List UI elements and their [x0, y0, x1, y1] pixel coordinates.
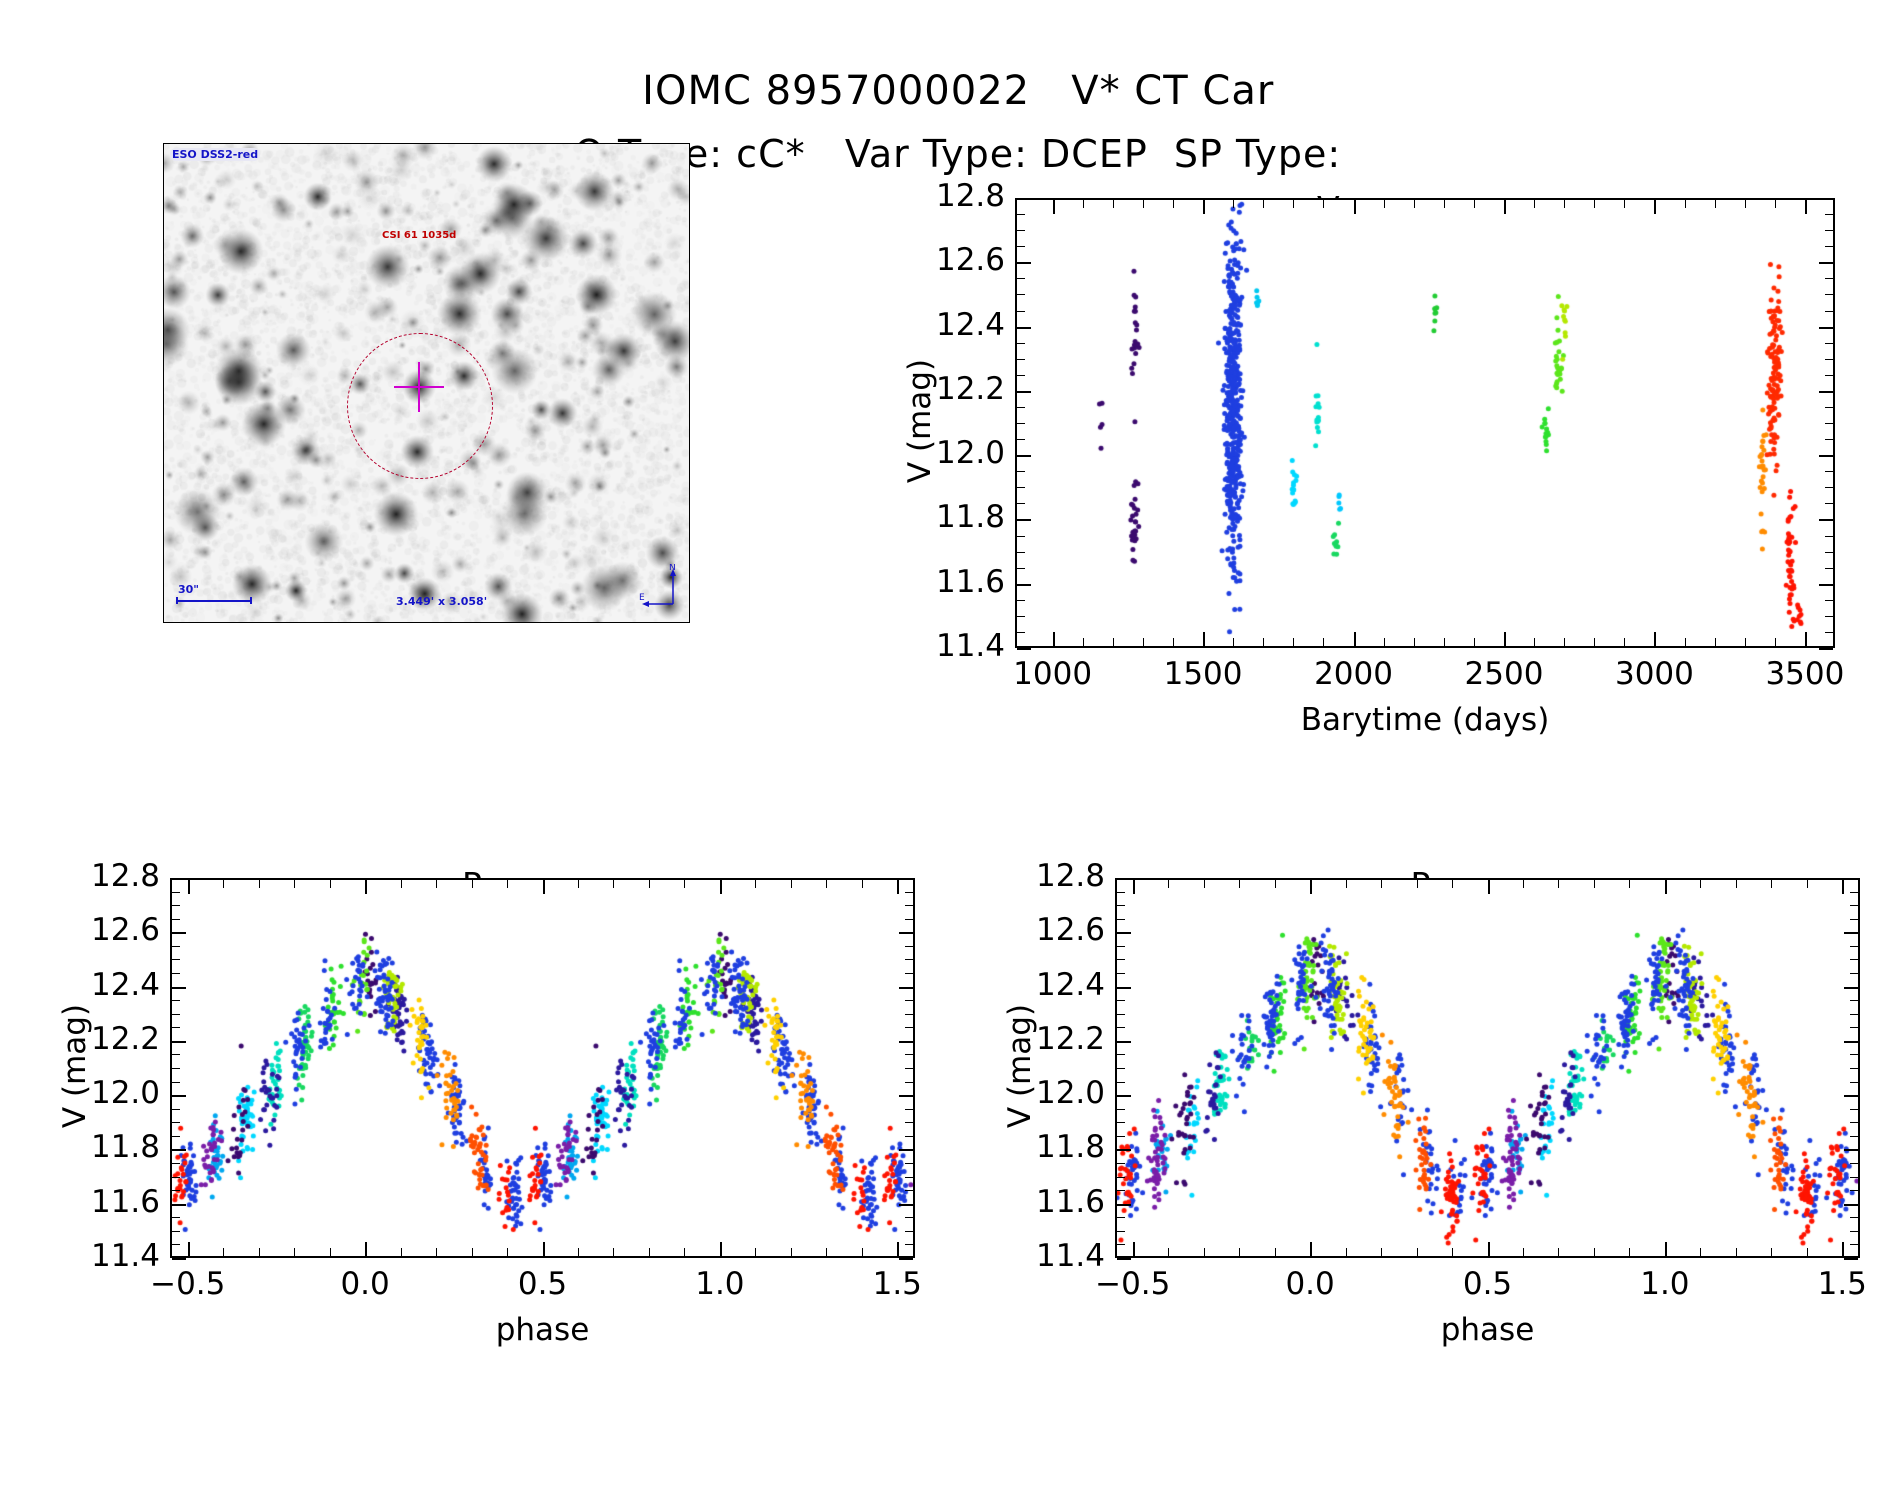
axis-tick [1488, 1242, 1490, 1256]
axis-tick [1850, 1163, 1858, 1164]
axis-tick [1850, 946, 1858, 947]
axis-tick [1323, 200, 1324, 208]
axis-tick [1017, 262, 1031, 264]
axis-tick [1736, 1248, 1737, 1256]
axis-tick [294, 1248, 295, 1256]
axis-tick [1017, 616, 1025, 617]
axis-tick [1825, 407, 1833, 408]
axis-tick [172, 1258, 186, 1260]
axis-tick [172, 1204, 186, 1206]
axis-tick [1017, 552, 1025, 553]
phase-vsx-panel[interactable]: PVSX = 18.060600 days 11.411.611.812.012… [955, 826, 1885, 1486]
phase-omc-panel[interactable]: POMC = 18.062±0.004 days 11.411.611.812.… [10, 826, 940, 1486]
axis-tick [1117, 1190, 1125, 1191]
phase-omc-points [172, 880, 913, 1256]
axis-tick [1113, 638, 1114, 646]
x-axis-tick-label: −0.5 [118, 1266, 258, 1302]
axis-tick [1850, 1054, 1858, 1055]
axis-tick [1143, 200, 1144, 208]
axis-tick [1203, 632, 1205, 646]
axis-tick [1117, 1258, 1131, 1260]
axis-tick [1624, 200, 1625, 208]
axis-tick [791, 880, 792, 888]
axis-tick [1053, 200, 1055, 214]
x-axis-tick-label: 3500 [1735, 656, 1875, 692]
axis-tick [1381, 1248, 1382, 1256]
axis-tick [1825, 423, 1833, 424]
axis-tick [1117, 892, 1125, 893]
axis-tick [1825, 600, 1833, 601]
axis-tick [1017, 246, 1025, 247]
axis-tick [684, 880, 685, 888]
axis-tick [1850, 1109, 1858, 1110]
axis-tick [1850, 1000, 1858, 1001]
axis-tick [1685, 200, 1686, 208]
axis-tick [1173, 638, 1174, 646]
axis-tick [899, 932, 913, 934]
crosshair-horizontal-icon [394, 386, 444, 388]
axis-tick [1444, 638, 1445, 646]
axis-tick [684, 1248, 685, 1256]
axis-tick [1263, 638, 1264, 646]
axis-tick [1275, 880, 1276, 888]
axis-tick [905, 892, 913, 893]
axis-tick [172, 1217, 180, 1218]
axis-tick [1594, 200, 1595, 208]
axis-tick [905, 1027, 913, 1028]
axis-tick [1117, 1136, 1125, 1137]
axis-tick [330, 1248, 331, 1256]
axis-tick [905, 1068, 913, 1069]
axis-tick [1807, 880, 1808, 888]
axis-tick [1819, 584, 1833, 586]
axis-tick [1117, 1109, 1125, 1110]
axis-tick [1233, 200, 1234, 208]
axis-tick [1239, 1248, 1240, 1256]
axis-tick [1844, 1149, 1858, 1151]
axis-tick [172, 919, 180, 920]
phase-omc-axes [170, 878, 915, 1258]
axis-tick [826, 880, 827, 888]
axis-tick [649, 880, 650, 888]
axis-tick [172, 1000, 180, 1001]
axis-tick [905, 1109, 913, 1110]
axis-tick [1564, 200, 1565, 208]
x-axis-tick-label: 1.0 [650, 1266, 790, 1302]
axis-tick [1017, 600, 1025, 601]
svg-text:N: N [669, 564, 676, 573]
axis-tick [755, 1248, 756, 1256]
axis-tick [1414, 200, 1415, 208]
axis-tick [1017, 198, 1031, 200]
x-axis-label: phase [170, 1312, 915, 1348]
axis-tick [1017, 503, 1025, 504]
axis-tick [172, 973, 180, 974]
axis-tick [1523, 880, 1524, 888]
axis-tick [172, 1054, 180, 1055]
axis-tick [1558, 1248, 1559, 1256]
axis-tick [1117, 959, 1125, 960]
axis-tick [1293, 200, 1294, 208]
axis-tick [905, 1082, 913, 1083]
lightcurve-points [1017, 200, 1833, 646]
x-axis-tick-label: 2000 [1284, 656, 1424, 692]
axis-tick [1452, 1248, 1453, 1256]
axis-tick [1805, 632, 1807, 646]
axis-tick [905, 1122, 913, 1123]
axis-tick [1117, 1177, 1125, 1178]
axis-tick [1844, 987, 1858, 989]
axis-tick [1825, 503, 1833, 504]
axis-tick [172, 959, 180, 960]
axis-tick [1850, 1014, 1858, 1015]
axis-tick [1414, 638, 1415, 646]
axis-tick [899, 1204, 913, 1206]
axis-tick [1117, 1054, 1125, 1055]
axis-tick [1168, 880, 1169, 888]
axis-tick [1654, 200, 1656, 214]
axis-tick [1629, 1248, 1630, 1256]
axis-tick [1825, 439, 1833, 440]
axis-tick [172, 878, 186, 880]
axis-tick [1825, 246, 1833, 247]
axis-tick [1346, 1248, 1347, 1256]
y-axis-tick-label: 12.6 [900, 242, 1005, 278]
axis-tick [1850, 919, 1858, 920]
axis-tick [1323, 638, 1324, 646]
axis-tick [1715, 638, 1716, 646]
compass-icon: N E [639, 564, 681, 608]
axis-tick [1825, 552, 1833, 553]
axis-tick [1850, 1082, 1858, 1083]
axis-tick [1775, 200, 1776, 208]
axis-tick [1771, 1248, 1772, 1256]
axis-tick [1594, 1248, 1595, 1256]
axis-tick [1083, 638, 1084, 646]
axis-tick [1534, 638, 1535, 646]
axis-tick [1844, 1041, 1858, 1043]
axis-tick [1825, 230, 1833, 231]
axis-tick [1203, 200, 1205, 214]
axis-tick [1825, 278, 1833, 279]
axis-tick [905, 919, 913, 920]
x-axis-tick-label: 3000 [1584, 656, 1724, 692]
axis-tick [172, 1014, 180, 1015]
axis-tick [899, 1149, 913, 1151]
axis-tick [862, 880, 863, 888]
axis-tick [1017, 359, 1025, 360]
axis-tick [1850, 1068, 1858, 1069]
axis-tick [905, 1136, 913, 1137]
axis-tick [1850, 959, 1858, 960]
axis-tick [172, 1244, 180, 1245]
axis-tick [905, 1244, 913, 1245]
axis-tick [1310, 880, 1312, 894]
axis-tick [223, 880, 224, 888]
y-axis-label: V (mag) [1002, 966, 1038, 1166]
axis-tick [1850, 1231, 1858, 1232]
axis-tick [905, 946, 913, 947]
axis-tick [897, 1242, 899, 1256]
axis-tick [1825, 616, 1833, 617]
axis-tick [1745, 200, 1746, 208]
axis-tick [1143, 638, 1144, 646]
axis-tick [1842, 1242, 1844, 1256]
axis-tick [1715, 200, 1716, 208]
axis-tick [1117, 1149, 1131, 1151]
axis-tick [1017, 455, 1031, 457]
axis-tick [899, 1041, 913, 1043]
y-axis-tick-label: 12.8 [55, 858, 160, 894]
axis-tick [259, 1248, 260, 1256]
axis-tick [1474, 638, 1475, 646]
axis-tick [613, 880, 614, 888]
y-axis-label: V (mag) [57, 966, 93, 1166]
axis-tick [1850, 892, 1858, 893]
axis-tick [1850, 1122, 1858, 1123]
axis-tick [1825, 294, 1833, 295]
axis-tick [1825, 568, 1833, 569]
axis-tick [1842, 880, 1844, 894]
finder-chart[interactable]: ESO DSS2-red CSI 61 1035d 30" 3.449' x 3… [163, 143, 690, 623]
y-axis-tick-label: 11.6 [55, 1184, 160, 1220]
axis-tick [1117, 905, 1125, 906]
x-axis-label: Barytime (days) [1015, 702, 1835, 738]
axis-tick [1850, 1190, 1858, 1191]
axis-tick [899, 987, 913, 989]
axis-tick [1117, 878, 1131, 880]
axis-tick [543, 880, 545, 894]
axis-tick [172, 1177, 180, 1178]
axis-tick [1017, 471, 1025, 472]
axis-tick [1807, 1248, 1808, 1256]
axis-tick [188, 1242, 190, 1256]
axis-tick [1117, 1041, 1131, 1043]
axis-tick [1624, 638, 1625, 646]
axis-tick [172, 987, 186, 989]
axis-tick [905, 1177, 913, 1178]
axis-tick [1117, 1027, 1125, 1028]
axis-tick [1117, 1217, 1125, 1218]
axis-tick [1665, 1242, 1667, 1256]
axis-tick [259, 880, 260, 888]
axis-tick [1017, 375, 1025, 376]
axis-tick [172, 1027, 180, 1028]
axis-tick [172, 932, 186, 934]
axis-tick [436, 1248, 437, 1256]
axis-tick [1700, 1248, 1701, 1256]
axis-tick [1819, 519, 1833, 521]
axis-tick [1564, 638, 1565, 646]
axis-tick [905, 1163, 913, 1164]
axis-tick [1117, 1095, 1131, 1097]
axis-tick [1819, 455, 1833, 457]
x-axis-tick-label: 0.5 [473, 1266, 613, 1302]
axis-tick [294, 880, 295, 888]
axis-tick [1825, 632, 1833, 633]
axis-tick [1017, 519, 1031, 521]
axis-tick [862, 1248, 863, 1256]
axis-tick [1275, 1248, 1276, 1256]
y-axis-tick-label: 11.6 [900, 564, 1005, 600]
axis-tick [365, 880, 367, 894]
axis-tick [1017, 391, 1031, 393]
axis-tick [1850, 1217, 1858, 1218]
axis-tick [1850, 905, 1858, 906]
axis-tick [826, 1248, 827, 1256]
axis-tick [578, 880, 579, 888]
axis-tick [1594, 880, 1595, 888]
x-axis-label: phase [1115, 1312, 1860, 1348]
lightcurve-axes [1015, 198, 1835, 648]
axis-tick [649, 1248, 650, 1256]
axis-tick [1417, 1248, 1418, 1256]
axis-tick [791, 1248, 792, 1256]
axis-tick [1083, 200, 1084, 208]
axis-tick [1850, 1244, 1858, 1245]
axis-tick [507, 880, 508, 888]
axis-tick [172, 1149, 186, 1151]
axis-tick [905, 973, 913, 974]
axis-tick [1825, 311, 1833, 312]
x-axis-tick-label: 1500 [1133, 656, 1273, 692]
axis-tick [1017, 214, 1025, 215]
axis-tick [1504, 632, 1506, 646]
axis-tick [401, 880, 402, 888]
axis-tick [1844, 1095, 1858, 1097]
phase-vsx-points [1117, 880, 1858, 1256]
axis-tick [1825, 375, 1833, 376]
object-id-label: CSI 61 1035d [382, 230, 456, 241]
axis-tick [1204, 1248, 1205, 1256]
axis-tick [1204, 880, 1205, 888]
lightcurve-panel[interactable]: Vmed = 12.14 mag <err_V> = 0.10 mag 11.4… [790, 150, 1870, 690]
axis-tick [720, 1242, 722, 1256]
axis-tick [1745, 638, 1746, 646]
axis-tick [1685, 638, 1686, 646]
axis-tick [1117, 946, 1125, 947]
field-of-view-label: 3.449' x 3.058' [396, 595, 487, 608]
axis-tick [1017, 423, 1025, 424]
axis-tick [1850, 1177, 1858, 1178]
y-axis-tick-label: 12.8 [900, 178, 1005, 214]
axis-tick [1736, 880, 1737, 888]
axis-tick [1523, 1248, 1524, 1256]
axis-tick [1017, 343, 1025, 344]
phase-vsx-axes [1115, 878, 1860, 1258]
axis-tick [172, 892, 180, 893]
x-axis-tick-label: 0.0 [1240, 1266, 1380, 1302]
axis-tick [1775, 638, 1776, 646]
axis-tick [1017, 648, 1031, 650]
axis-tick [1117, 973, 1125, 974]
axis-tick [1113, 200, 1114, 208]
axis-tick [223, 1248, 224, 1256]
axis-tick [1825, 536, 1833, 537]
axis-tick [1117, 932, 1131, 934]
axis-tick [1819, 391, 1833, 393]
axis-tick [1310, 1242, 1312, 1256]
axis-tick [172, 1041, 186, 1043]
y-axis-tick-label: 11.6 [1000, 1184, 1105, 1220]
axis-tick [1384, 200, 1385, 208]
axis-tick [1117, 1163, 1125, 1164]
axis-tick [1819, 648, 1833, 650]
y-axis-tick-label: 12.8 [1000, 858, 1105, 894]
x-axis-tick-label: 2500 [1434, 656, 1574, 692]
axis-tick [905, 1231, 913, 1232]
axis-tick [720, 880, 722, 894]
axis-tick [905, 1054, 913, 1055]
axis-tick [1850, 1027, 1858, 1028]
axis-tick [1117, 1000, 1125, 1001]
axis-tick [897, 880, 899, 894]
axis-tick [472, 1248, 473, 1256]
axis-tick [1474, 200, 1475, 208]
axis-tick [1819, 327, 1833, 329]
axis-tick [578, 1248, 579, 1256]
axis-tick [1629, 880, 1630, 888]
axis-tick [1117, 1082, 1125, 1083]
axis-tick [1534, 200, 1535, 208]
axis-tick [1346, 880, 1347, 888]
axis-tick [1117, 1014, 1125, 1015]
axis-tick [1233, 638, 1234, 646]
axis-tick [172, 1136, 180, 1137]
x-axis-tick-label: 1.5 [1772, 1266, 1889, 1302]
scalebar-label: 30" [178, 583, 199, 596]
axis-tick [172, 1190, 180, 1191]
axis-tick [1558, 880, 1559, 888]
axis-tick [613, 1248, 614, 1256]
axis-tick [172, 1163, 180, 1164]
axis-tick [543, 1242, 545, 1256]
axis-tick [172, 1095, 186, 1097]
axis-tick [1053, 632, 1055, 646]
axis-tick [899, 1095, 913, 1097]
axis-tick [1117, 1122, 1125, 1123]
axis-tick [365, 1242, 367, 1256]
axis-tick [1354, 200, 1356, 214]
axis-tick [1844, 1204, 1858, 1206]
axis-tick [755, 880, 756, 888]
axis-tick [1381, 880, 1382, 888]
axis-tick [1117, 1231, 1125, 1232]
x-axis-tick-label: 0.0 [295, 1266, 435, 1302]
axis-tick [172, 1122, 180, 1123]
axis-tick [905, 1014, 913, 1015]
axis-tick [899, 1258, 913, 1260]
axis-tick [1384, 638, 1385, 646]
axis-tick [1444, 200, 1445, 208]
axis-tick [1805, 200, 1807, 214]
axis-tick [172, 1082, 180, 1083]
axis-tick [1819, 198, 1833, 200]
axis-tick [1117, 1204, 1131, 1206]
axis-tick [330, 880, 331, 888]
x-axis-tick-label: −0.5 [1063, 1266, 1203, 1302]
axis-tick [1263, 200, 1264, 208]
axis-tick [1654, 632, 1656, 646]
axis-tick [1700, 880, 1701, 888]
survey-label: ESO DSS2-red [170, 148, 260, 161]
axis-tick [1017, 568, 1025, 569]
axis-tick [1850, 973, 1858, 974]
axis-tick [905, 1190, 913, 1191]
axis-tick [1017, 439, 1025, 440]
axis-tick [1117, 1068, 1125, 1069]
axis-tick [172, 946, 180, 947]
